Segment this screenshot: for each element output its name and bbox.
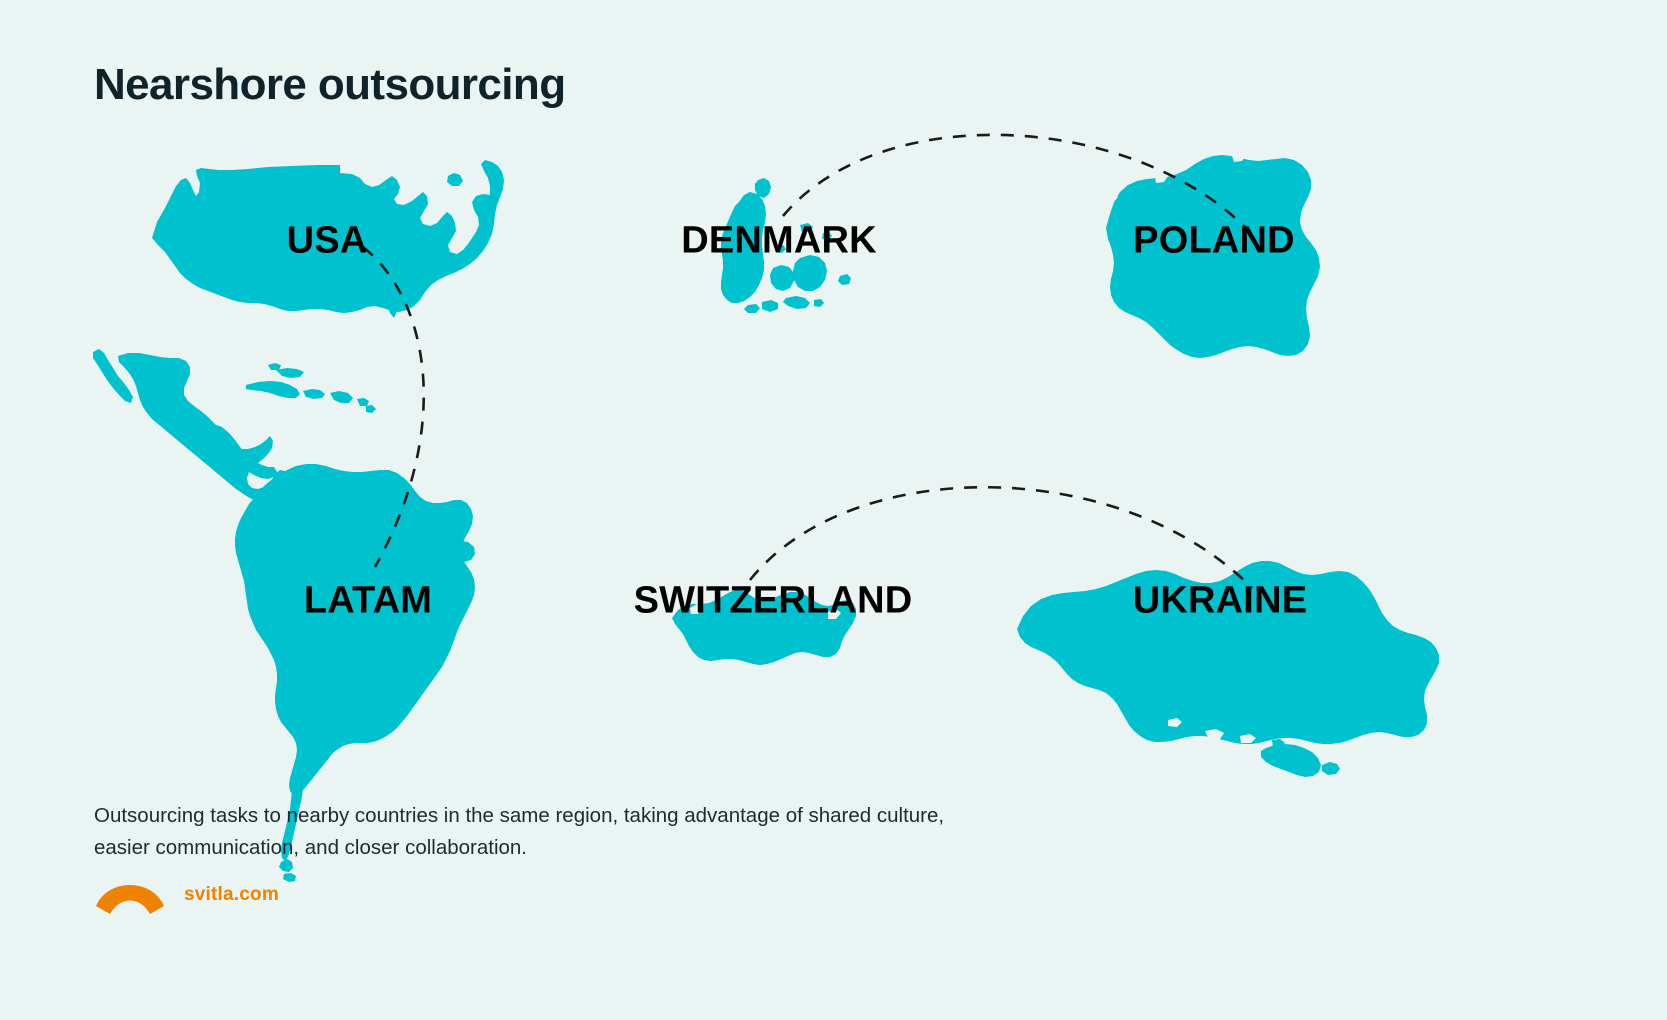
world-maps-layer bbox=[0, 0, 1667, 1020]
region-label-latam: LATAM bbox=[304, 580, 432, 623]
region-label-ukraine: UKRAINE bbox=[1133, 580, 1308, 623]
region-label-poland: POLAND bbox=[1133, 220, 1295, 263]
caption-line-1: Outsourcing tasks to nearby countries in… bbox=[94, 800, 1094, 832]
caption-line-2: easier communication, and closer collabo… bbox=[94, 832, 1094, 864]
brand-logo-text: svitla.com bbox=[184, 884, 279, 906]
connector-switzerland-to-ukraine bbox=[750, 487, 1252, 588]
infographic-canvas: Nearshore outsourcing bbox=[0, 0, 1667, 1020]
svitla-fan-icon bbox=[94, 870, 166, 920]
brand-logo[interactable]: svitla.com bbox=[94, 870, 279, 920]
region-label-denmark: DENMARK bbox=[681, 220, 877, 263]
region-label-usa: USA bbox=[287, 220, 368, 263]
caption-block: Outsourcing tasks to nearby countries in… bbox=[94, 800, 1094, 865]
region-label-switzerland: SWITZERLAND bbox=[634, 580, 913, 623]
